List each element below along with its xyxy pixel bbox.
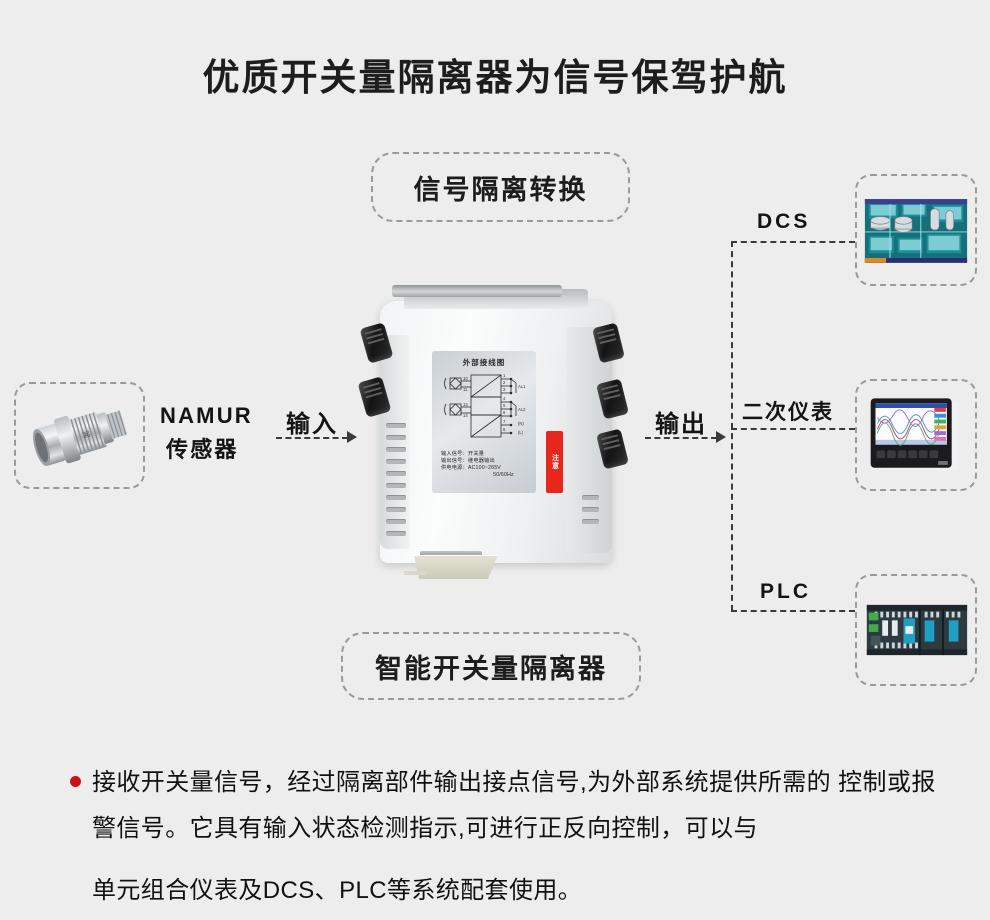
vent-slot [386,447,406,452]
device-wiring-nameplate: 外部接线图 [432,351,536,493]
svg-text:6: 6 [503,410,506,415]
svg-text:14: 14 [463,413,468,418]
branch-line-plc [731,610,855,612]
svg-text:10: 10 [463,376,468,381]
svg-text:13: 13 [463,402,468,407]
vent-slot [386,483,406,488]
svg-text:11: 11 [463,387,468,392]
wiring-schematic-icon: 1011 1314 123 456 78 AL1AL2 (N)(L) [438,371,530,449]
badge-bottom-label: 智能开关量隔离器 [375,647,607,686]
nameplate-specs: 输入信号：开关量 输出信号：继电器输出 供电电源：AC100~265V 50/6… [441,451,536,479]
paperless-recorder-icon [857,381,975,489]
svg-text:7: 7 [503,419,506,424]
svg-text:1: 1 [503,373,506,378]
branch-line-meter [731,428,855,430]
signal-isolator-device: 外部接线图 [352,283,652,595]
device-top-strip [392,285,562,297]
badge-smart-switch-isolator: 智能开关量隔离器 [341,632,641,700]
vent-slot [582,519,599,524]
spec-frequency: 50/60Hz [471,472,536,479]
description-paragraph: 接收开关量信号，经过隔离部件输出接点信号,为外部系统提供所需的 控制或报警信号。… [92,760,952,914]
svg-text:3: 3 [503,387,506,392]
dcs-image-frame [855,174,977,286]
svg-text:(N): (N) [518,421,524,426]
vent-slot [582,495,599,500]
spec-power: 供电电源：AC100~265V [441,465,501,471]
badge-signal-isolation-conversion: 信号隔离转换 [371,152,630,222]
svg-text:5: 5 [503,403,506,408]
spec-input: 输入信号：开关量 [441,451,484,457]
output-arrow-head [716,431,726,443]
svg-text:(L): (L) [518,430,524,435]
label-dcs: DCS [757,210,810,234]
vent-slot [386,495,406,500]
warning-sticker: 注意 [546,431,563,493]
description-line-1: 接收开关量信号，经过隔离部件输出接点信号,为外部系统提供所需的 [92,769,831,796]
label-sensor-cn: 传感器 [166,432,239,464]
svg-text:8: 8 [503,427,506,432]
infographic-page: 优质开关量隔离器为信号保驾护航 信号隔离转换 智能开关量隔离器 [0,0,990,920]
vent-slot [386,459,406,464]
svg-text:2: 2 [503,380,506,385]
label-output: 输出 [655,404,707,439]
branch-trunk-line [731,241,733,611]
vent-slot [386,507,406,512]
svg-text:AL1: AL1 [518,384,526,389]
warning-sticker-label: 注意 [550,454,560,470]
secondary-instrument-image-frame [855,379,977,491]
badge-top-label: 信号隔离转换 [414,168,588,207]
vent-slot [386,519,406,524]
namur-sensor-image-frame: ⌘ [14,382,145,489]
plc-modules-icon [857,576,975,684]
namur-proximity-sensor-icon: ⌘ [16,384,143,487]
output-arrow-line [645,437,717,439]
vent-slot [386,471,406,476]
label-namur: NAMUR [160,403,253,429]
vent-slot [582,507,599,512]
vent-slot [386,531,406,536]
input-arrow-line [276,437,348,439]
dcs-process-screen-icon [857,176,975,284]
branch-line-dcs [731,241,855,243]
page-title: 优质开关量隔离器为信号保驾护航 [0,47,990,101]
svg-text:4: 4 [503,396,506,401]
description-line-3: 单元组合仪表及DCS、PLC等系统配套使用。 [92,868,952,914]
spec-output: 输出信号：继电器输出 [441,458,495,464]
device-left-face [380,335,410,549]
vent-slot [386,423,406,428]
vent-slot [386,435,406,440]
din-rail-tab [404,571,426,575]
bullet-marker [70,776,81,787]
nameplate-title: 外部接线图 [432,357,536,368]
din-rail-clip [414,555,498,579]
svg-text:AL2: AL2 [518,407,526,412]
plc-image-frame [855,574,977,686]
label-plc: PLC [760,580,811,604]
label-input: 输入 [286,404,338,439]
label-secondary-instrument: 二次仪表 [742,396,834,426]
